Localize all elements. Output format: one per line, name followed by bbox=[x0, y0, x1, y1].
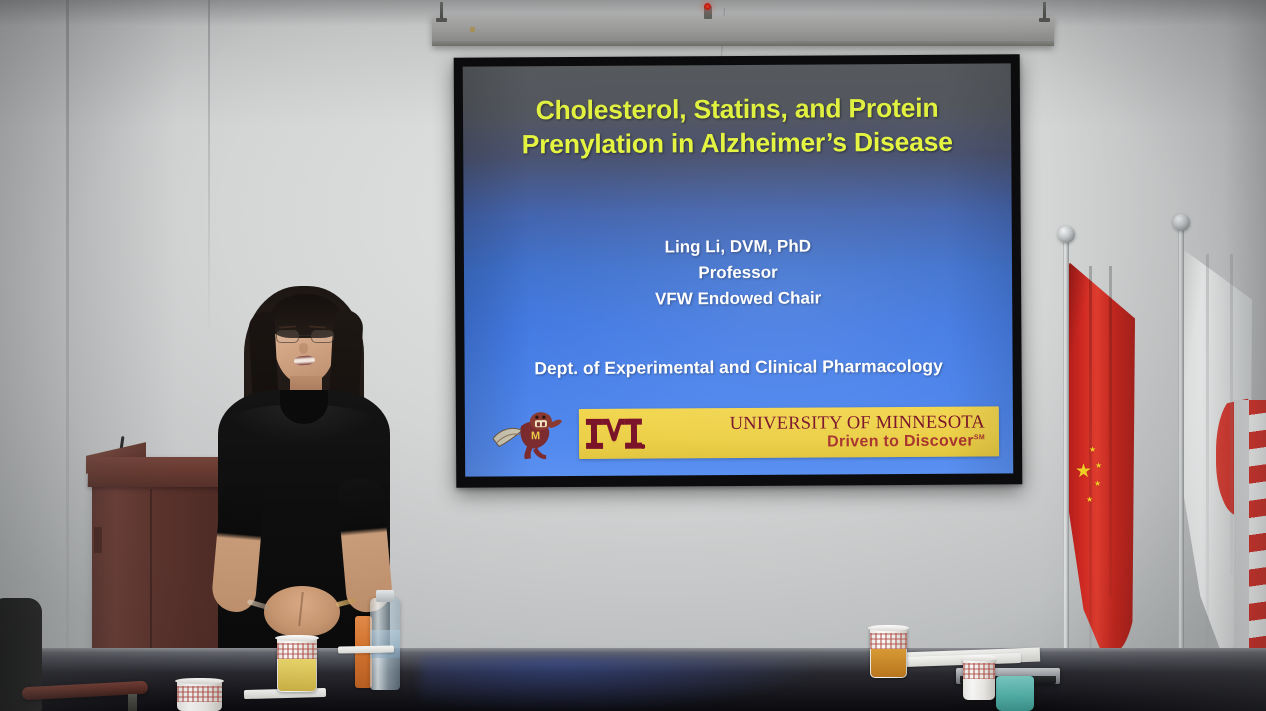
umn-tagline: Driven to DiscoverSM bbox=[649, 433, 985, 452]
housing-lip bbox=[432, 41, 1054, 46]
presenter-chair: VFW Endowed Chair bbox=[464, 284, 1012, 313]
lens-left bbox=[276, 330, 299, 343]
glasses-bridge bbox=[299, 335, 311, 336]
eyeglasses-icon bbox=[276, 330, 334, 343]
presentation-slide: Cholesterol, Statins, and Protein Prenyl… bbox=[463, 63, 1013, 476]
table-reflection bbox=[420, 656, 820, 711]
cup-rim bbox=[175, 678, 224, 684]
presenter-name: Ling Li, DVM, PhD bbox=[464, 232, 1012, 261]
slide-title: Cholesterol, Statins, and Protein Prenyl… bbox=[463, 91, 1011, 162]
nose bbox=[299, 343, 308, 354]
flagpole-finial bbox=[1173, 214, 1190, 231]
cup-pattern bbox=[277, 643, 317, 659]
brand-mark-icon bbox=[470, 27, 475, 32]
flag-fold bbox=[1206, 254, 1209, 652]
cup-contents bbox=[871, 649, 906, 677]
power-indicator-light bbox=[704, 3, 711, 10]
cup-pattern bbox=[177, 686, 222, 702]
bottle-label bbox=[370, 630, 400, 658]
university-logo-lockup: M bbox=[491, 403, 999, 462]
flag-star-large: ★ bbox=[1075, 462, 1092, 481]
presenter-rank: Professor bbox=[464, 258, 1012, 287]
housing-brand-label bbox=[470, 27, 477, 32]
slide-presenter-block: Ling Li, DVM, PhD Professor VFW Endowed … bbox=[464, 232, 1012, 313]
wall-seam bbox=[66, 0, 69, 711]
flag-star-small: ★ bbox=[1086, 496, 1093, 504]
umn-wordmark: UNIVERSITY OF MINNESOTA Driven to Discov… bbox=[579, 406, 999, 459]
paper-cup-right-2 bbox=[963, 658, 995, 700]
flag-fold bbox=[1109, 266, 1112, 596]
teal-container bbox=[996, 676, 1034, 711]
flag-star-small: ★ bbox=[1094, 480, 1101, 488]
cup-contents bbox=[278, 659, 316, 691]
cup-rim bbox=[275, 635, 319, 641]
cup-pattern bbox=[963, 663, 995, 679]
paper-cup-left bbox=[177, 681, 222, 711]
goldy-gopher-mascot-icon: M bbox=[491, 408, 565, 460]
mount-bracket bbox=[1043, 2, 1046, 22]
slide-title-line-1: Cholesterol, Statins, and Protein bbox=[475, 91, 999, 128]
paper-cup-center bbox=[277, 638, 317, 692]
flag-star-small: ★ bbox=[1089, 446, 1096, 454]
projection-screen-housing bbox=[432, 16, 1054, 46]
cup-rim bbox=[961, 655, 997, 661]
projection-screen: Cholesterol, Statins, and Protein Prenyl… bbox=[454, 54, 1023, 487]
slide-department: Dept. of Experimental and Clinical Pharm… bbox=[465, 355, 1013, 379]
slide-title-line-2: Prenylation in Alzheimer’s Disease bbox=[475, 125, 999, 162]
flagpole bbox=[1178, 228, 1184, 668]
lectern-notch bbox=[94, 527, 102, 553]
umn-wordmark-text: UNIVERSITY OF MINNESOTA Driven to Discov… bbox=[649, 413, 991, 452]
cup-pattern bbox=[870, 633, 907, 649]
svg-text:M: M bbox=[531, 430, 540, 442]
umn-block-m-icon bbox=[583, 413, 645, 455]
flag-fold bbox=[1230, 254, 1233, 574]
mount-bracket bbox=[440, 2, 443, 22]
bottle-cap bbox=[376, 590, 394, 602]
flag-china: ★ ★ ★ ★ ★ bbox=[1063, 240, 1137, 670]
paper-cup-right bbox=[870, 628, 907, 678]
flagpole-finial bbox=[1058, 226, 1075, 243]
flagpole bbox=[1063, 240, 1069, 670]
lens-right bbox=[311, 330, 334, 343]
chair-post bbox=[128, 694, 137, 711]
napkin bbox=[338, 646, 394, 654]
service-mark: SM bbox=[974, 434, 985, 441]
flag-star-small: ★ bbox=[1095, 462, 1102, 470]
cup-rim bbox=[868, 625, 909, 631]
wall-seam bbox=[208, 0, 210, 330]
umn-tagline-text: Driven to Discover bbox=[827, 432, 974, 450]
seminar-room-photo: Cholesterol, Statins, and Protein Prenyl… bbox=[0, 0, 1266, 711]
umn-university-name: UNIVERSITY OF MINNESOTA bbox=[649, 413, 985, 434]
